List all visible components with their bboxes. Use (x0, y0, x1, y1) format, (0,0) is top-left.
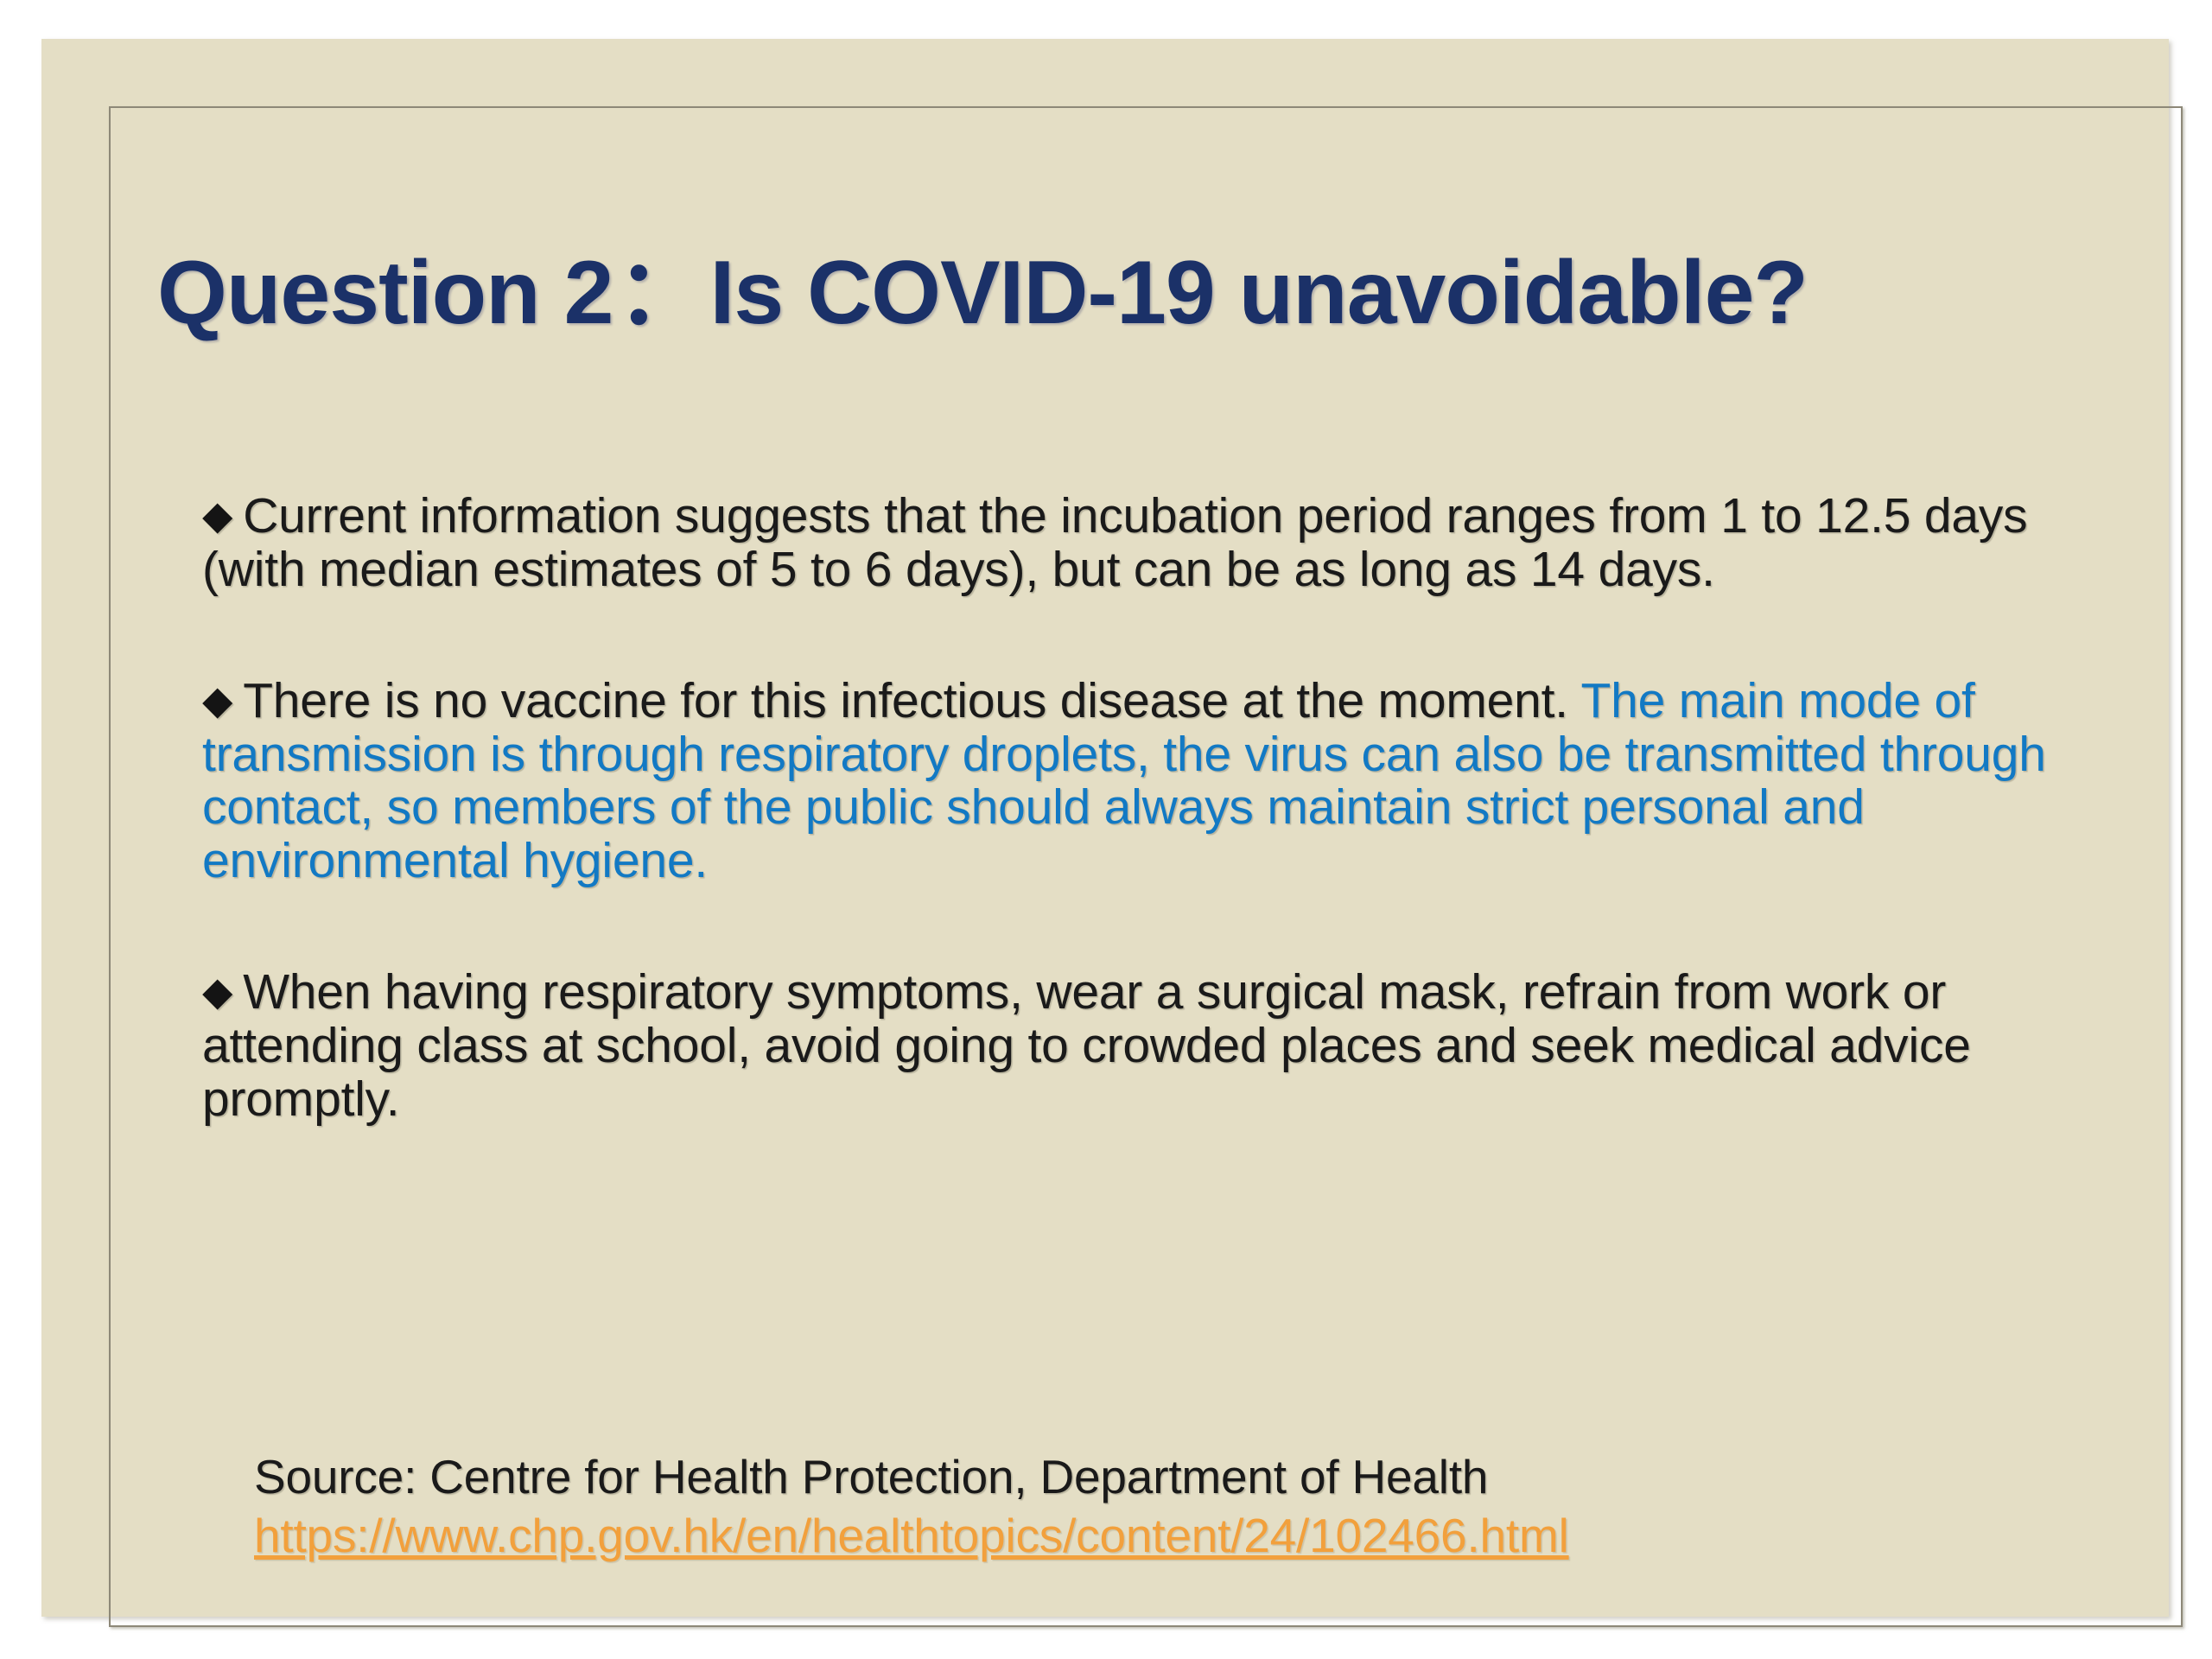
source-label: Source: Centre for Health Protection, De… (254, 1451, 2069, 1504)
bullet-item-1: ◆Current information suggests that the i… (202, 490, 2120, 597)
page-title: Question 2：Is COVID-19 unavoidable? (157, 245, 2145, 341)
diamond-bullet-icon: ◆ (202, 495, 232, 535)
bullet-item-1-text: Current information suggests that the in… (202, 488, 2028, 597)
title-colon: ： (613, 243, 709, 343)
title-rest: Is COVID-19 unavoidable? (709, 243, 1808, 343)
source-url-link[interactable]: https://www.chp.gov.hk/en/healthtopics/c… (254, 1510, 1569, 1563)
source-block: Source: Centre for Health Protection, De… (254, 1451, 2069, 1562)
title-prefix: Question 2 (157, 243, 613, 343)
bullet-item-3: ◆When having respiratory symptoms, wear … (202, 966, 2120, 1127)
bullet-item-3-text: When having respiratory symptoms, wear a… (202, 964, 1971, 1127)
diamond-bullet-icon: ◆ (202, 680, 232, 720)
bullet-list: ◆Current information suggests that the i… (202, 490, 2120, 1127)
bullet-item-2-text: There is no vaccine for this infectious … (243, 673, 1580, 728)
bullet-item-2: ◆There is no vaccine for this infectious… (202, 675, 2120, 888)
slide-body: Question 2：Is COVID-19 unavoidable? ◆Cur… (41, 39, 2169, 1617)
diamond-bullet-icon: ◆ (202, 971, 232, 1011)
slide-canvas: Question 2：Is COVID-19 unavoidable? ◆Cur… (0, 0, 2212, 1659)
